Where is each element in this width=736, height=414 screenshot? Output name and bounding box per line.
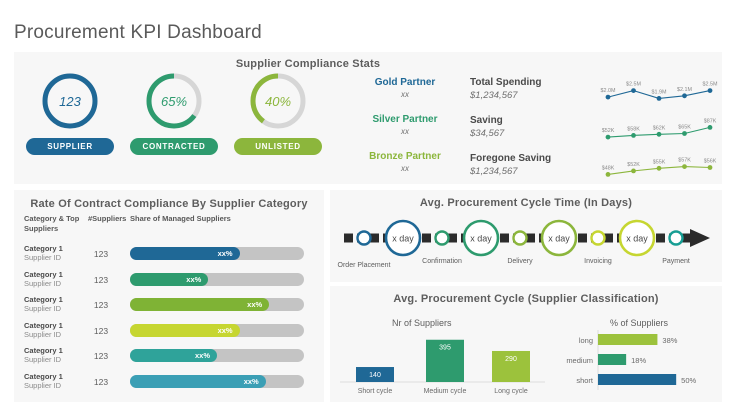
- subtitle-pct-of-suppliers: % of Suppliers: [610, 318, 668, 328]
- row-supplier-id: Supplier ID: [24, 304, 61, 313]
- sparkline-point-label: $87K: [704, 118, 717, 124]
- row-category-label: Category 1: [24, 270, 63, 279]
- donut-pill-label: UNLISTED: [234, 138, 322, 155]
- cycle-milestone-circle[interactable]: [514, 232, 527, 245]
- column-category-label: Medium cycle: [424, 388, 467, 395]
- cycle-stage-label: x day: [626, 234, 648, 244]
- column-bar-value: 395: [439, 345, 451, 352]
- hbar-value-label: 38%: [662, 336, 677, 345]
- donut-value: 123: [39, 70, 101, 132]
- sparkline-point: [657, 132, 662, 137]
- partner-value: xx: [344, 163, 466, 175]
- column-header-share: Share of Managed Suppliers: [130, 214, 231, 223]
- sparkline-total-spending: $2.0M$2.5M$1.9M$2.1M$2.5M: [600, 72, 718, 106]
- hbar-category-label: long: [579, 336, 593, 345]
- dashboard-root: Procurement KPI Dashboard Supplier Compl…: [0, 0, 736, 414]
- cycle-milestone-circle[interactable]: [670, 232, 683, 245]
- hbar[interactable]: [598, 334, 657, 345]
- hbar-category-label: short: [576, 376, 594, 385]
- sparkline-point: [631, 133, 636, 138]
- partner-row-silver: Silver Partner xx: [344, 113, 466, 138]
- money-label: Foregone Saving: [470, 152, 600, 165]
- row-category-label: Category 1: [24, 244, 63, 253]
- subtitle-nr-of-suppliers: Nr of Suppliers: [392, 318, 452, 328]
- row-supplier-id: Supplier ID: [24, 253, 61, 262]
- panel-title-contract-compliance: Rate Of Contract Compliance By Supplier …: [14, 198, 324, 210]
- row-category-label: Category 1: [24, 295, 63, 304]
- donut-chart: 65%: [143, 70, 205, 132]
- sparkline-point-label: $2.1M: [677, 87, 692, 93]
- cycle-milestone-circle[interactable]: [358, 232, 371, 245]
- row-supplier-count: 123: [88, 249, 114, 259]
- row-bar-fill: xx%: [130, 349, 217, 362]
- row-category-label: Category 1: [24, 372, 63, 381]
- compliance-bar-row[interactable]: Category 1Supplier ID123xx%: [24, 269, 304, 293]
- sparkline-point: [606, 172, 611, 177]
- sparkline-point-label: $52K: [627, 162, 640, 168]
- partner-value: xx: [344, 126, 466, 138]
- partner-label: Silver Partner: [344, 113, 466, 126]
- sparkline-point: [631, 88, 636, 93]
- partner-value: xx: [344, 89, 466, 101]
- compliance-bar-row[interactable]: Category 1Supplier ID123xx%: [24, 294, 304, 318]
- row-bar-fill: xx%: [130, 247, 240, 260]
- hbar-value-label: 50%: [681, 376, 696, 385]
- column-header-suppliers: #Suppliers: [88, 214, 126, 223]
- partner-label: Gold Partner: [344, 76, 466, 89]
- row-bar-track: xx%: [130, 324, 304, 337]
- cycle-milestone-label: Delivery: [492, 258, 548, 265]
- sparkline-point: [657, 96, 662, 101]
- sparkline-point-label: $2.5M: [703, 82, 718, 88]
- money-value: $1,234,567: [470, 165, 600, 178]
- sparkline-foregone-saving: $48K$52K$55K$57K$56K: [600, 148, 718, 182]
- column-header-category: Category & Top Suppliers: [24, 214, 82, 234]
- row-bar-fill: xx%: [130, 273, 208, 286]
- cycle-timeline: x dayx dayx dayx day: [330, 214, 722, 260]
- kpi-donut-supplier[interactable]: 123 SUPPLIER: [18, 70, 122, 155]
- sparkline-point-label: $2.0M: [601, 88, 616, 94]
- cycle-milestone-circle[interactable]: [592, 232, 605, 245]
- donut-pill-label: SUPPLIER: [26, 138, 114, 155]
- panel-title-classification: Avg. Procurement Cycle (Supplier Classif…: [330, 293, 722, 305]
- hbar[interactable]: [598, 374, 676, 385]
- sparkline-point: [682, 164, 687, 169]
- panel-title-cycle-time: Avg. Procurement Cycle Time (In Days): [330, 197, 722, 209]
- cycle-stage-label: x day: [470, 234, 492, 244]
- money-row-foregone-saving: Foregone Saving $1,234,567: [470, 152, 600, 178]
- row-bar-track: xx%: [130, 298, 304, 311]
- sparkline-svg: $52K$58K$62K$65K$87K: [600, 110, 718, 144]
- sparkline-point: [631, 169, 636, 174]
- row-bar-fill: xx%: [130, 298, 269, 311]
- cycle-stage-label: x day: [392, 234, 414, 244]
- money-label: Total Spending: [470, 76, 600, 89]
- sparkline-point-label: $56K: [704, 159, 717, 165]
- column-bar-value: 290: [505, 356, 517, 363]
- cycle-milestone-label: Invoicing: [570, 258, 626, 265]
- row-supplier-id: Supplier ID: [24, 355, 61, 364]
- partner-row-gold: Gold Partner xx: [344, 76, 466, 101]
- sparkline-point-label: $62K: [653, 125, 666, 131]
- cycle-milestone-label: Order Placement: [336, 262, 392, 269]
- row-supplier-count: 123: [88, 326, 114, 336]
- partner-label: Bronze Partner: [344, 150, 466, 163]
- sparkline-point-label: $57K: [678, 158, 691, 164]
- money-label: Saving: [470, 114, 600, 127]
- kpi-donut-contracted[interactable]: 65% CONTRACTED: [122, 70, 226, 155]
- sparkline-point: [606, 135, 611, 140]
- cycle-milestone-label: Confirmation: [414, 258, 470, 265]
- sparkline-svg: $48K$52K$55K$57K$56K: [600, 148, 718, 182]
- row-supplier-count: 123: [88, 300, 114, 310]
- money-row-saving: Saving $34,567: [470, 114, 600, 140]
- row-bar-track: xx%: [130, 375, 304, 388]
- hbar[interactable]: [598, 354, 626, 365]
- sparkline-point-label: $2.5M: [626, 82, 641, 88]
- money-row-total-spending: Total Spending $1,234,567: [470, 76, 600, 102]
- row-bar-fill: xx%: [130, 324, 240, 337]
- sparkline-point: [708, 88, 713, 93]
- sparkline-point-label: $1.9M: [652, 89, 667, 95]
- compliance-bar-row[interactable]: Category 1Supplier ID123xx%: [24, 371, 304, 395]
- kpi-donut-unlisted[interactable]: 40% UNLISTED: [226, 70, 330, 155]
- column-category-label: Long cycle: [494, 388, 528, 395]
- bar-chart-pct-of-suppliers: long38%medium18%short50%: [552, 330, 717, 400]
- sparkline-svg: $2.0M$2.5M$1.9M$2.1M$2.5M: [600, 72, 718, 106]
- row-supplier-count: 123: [88, 351, 114, 361]
- row-bar-track: xx%: [130, 247, 304, 260]
- money-value: $34,567: [470, 127, 600, 140]
- sparkline-point: [708, 125, 713, 130]
- compliance-bar-row[interactable]: Category 1Supplier ID123xx%: [24, 345, 304, 369]
- donut-chart: 123: [39, 70, 101, 132]
- sparkline-point-label: $52K: [602, 128, 615, 134]
- page-title: Procurement KPI Dashboard: [14, 22, 262, 44]
- sparkline-point: [708, 165, 713, 170]
- cycle-stage-label: x day: [548, 234, 570, 244]
- column-chart-nr-of-suppliers: 140Short cycle395Medium cycle290Long cyc…: [340, 330, 545, 402]
- partner-tier-list: Gold Partner xx Silver Partner xx Bronze…: [344, 76, 466, 187]
- row-category-label: Category 1: [24, 346, 63, 355]
- hbar-category-label: medium: [566, 356, 593, 365]
- sparkline-point: [606, 95, 611, 100]
- row-supplier-count: 123: [88, 275, 114, 285]
- row-bar-fill: xx%: [130, 375, 266, 388]
- partner-row-bronze: Bronze Partner xx: [344, 150, 466, 175]
- column-category-label: Short cycle: [358, 388, 393, 395]
- row-supplier-id: Supplier ID: [24, 279, 61, 288]
- row-supplier-id: Supplier ID: [24, 381, 61, 390]
- hbar-value-label: 18%: [631, 356, 646, 365]
- donut-pill-label: CONTRACTED: [130, 138, 218, 155]
- timeline-arrow-head: [690, 229, 710, 247]
- row-category-label: Category 1: [24, 321, 63, 330]
- row-supplier-count: 123: [88, 377, 114, 387]
- money-value: $1,234,567: [470, 89, 600, 102]
- sparkline-point-label: $65K: [678, 125, 691, 131]
- cycle-milestone-circle[interactable]: [436, 232, 449, 245]
- sparkline-point-label: $48K: [602, 165, 615, 171]
- row-bar-track: xx%: [130, 349, 304, 362]
- spending-summary-list: Total Spending $1,234,567 Saving $34,567…: [470, 76, 600, 190]
- panel-title-compliance: Supplier Compliance Stats: [0, 58, 722, 70]
- donut-chart: 40%: [247, 70, 309, 132]
- sparkline-point-label: $58K: [627, 126, 640, 132]
- sparkline-point: [682, 131, 687, 136]
- sparkline-point: [657, 166, 662, 171]
- cycle-milestone-label: Payment: [648, 258, 704, 265]
- sparkline-saving: $52K$58K$62K$65K$87K: [600, 110, 718, 144]
- row-supplier-id: Supplier ID: [24, 330, 61, 339]
- row-bar-track: xx%: [130, 273, 304, 286]
- donut-value: 65%: [143, 70, 205, 132]
- sparkline-point-label: $55K: [653, 159, 666, 165]
- column-bar-value: 140: [369, 372, 381, 379]
- donut-value: 40%: [247, 70, 309, 132]
- sparkline-point: [682, 93, 687, 98]
- compliance-bar-row[interactable]: Category 1Supplier ID123xx%: [24, 320, 304, 344]
- compliance-bar-row[interactable]: Category 1Supplier ID123xx%: [24, 243, 304, 267]
